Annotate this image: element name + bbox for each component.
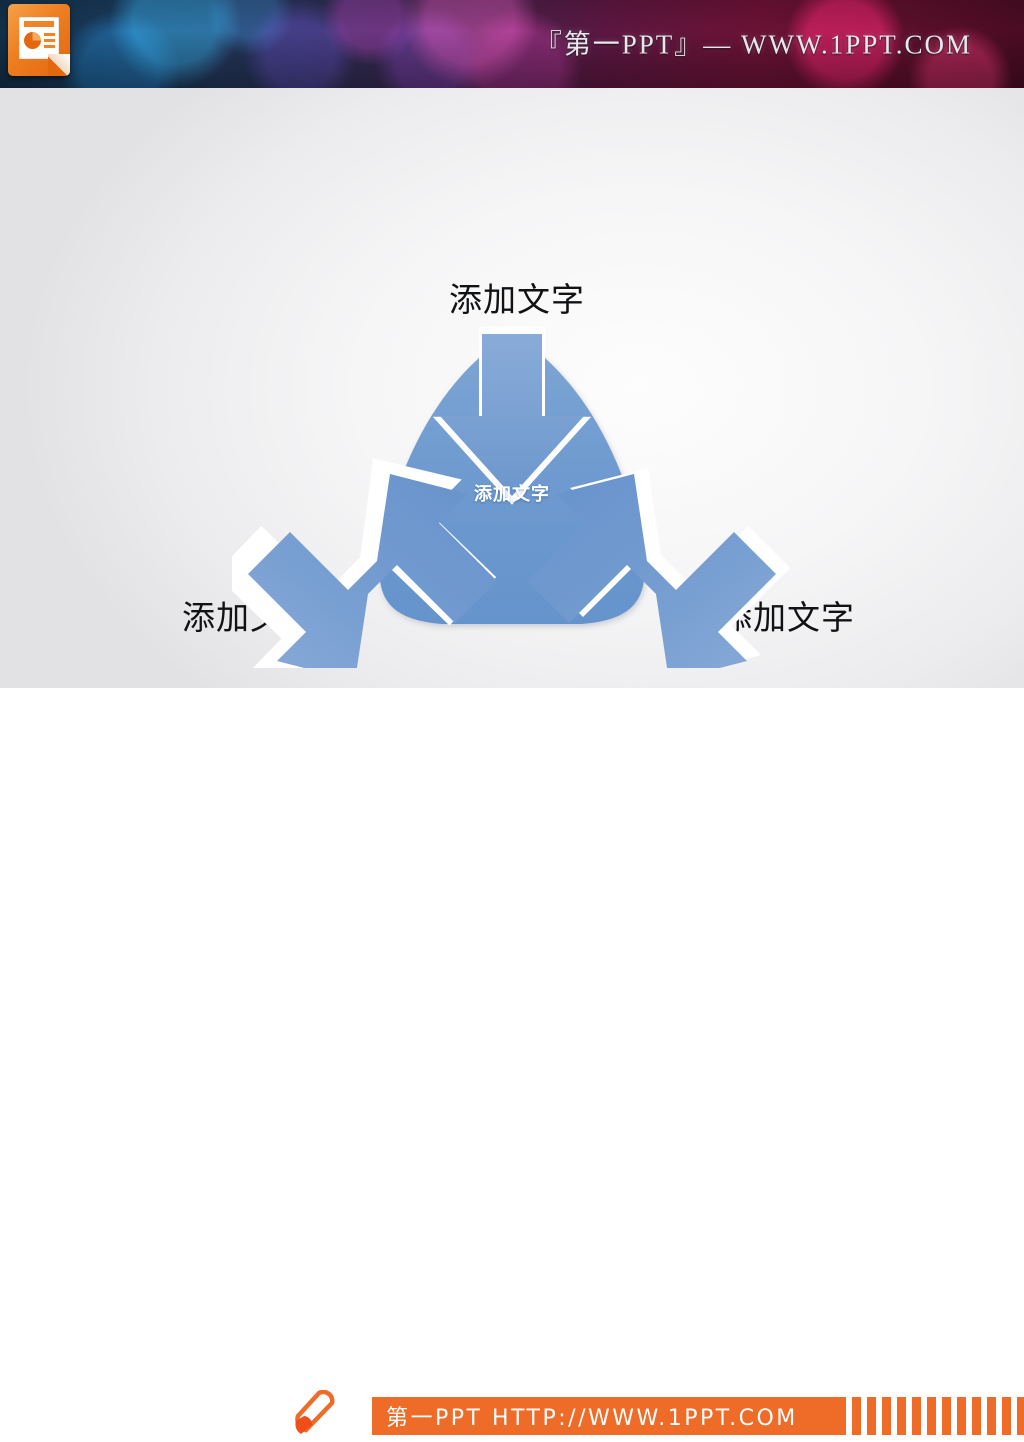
slide-body: 添加文字 添加文字 添加文字 — [0, 88, 1024, 688]
logo-card — [19, 17, 59, 59]
footer-url-bar: 第一PPT HTTP://WWW.1PPT.COM — [372, 1397, 846, 1435]
logo-page-fold — [48, 54, 70, 76]
diagram-center-label: 添加文字 — [0, 480, 1024, 506]
header-banner: 『第一PPT』— WWW.1PPT.COM — [0, 0, 1024, 88]
logo-line-3 — [44, 45, 55, 48]
pen-nib-icon — [292, 1390, 346, 1442]
footer-stripe-decoration — [852, 1397, 1024, 1435]
logo-line-1 — [44, 33, 55, 36]
logo-line-2 — [44, 39, 55, 42]
logo-card-header — [24, 21, 54, 27]
diagram-svg — [232, 248, 792, 668]
converging-arrows-diagram[interactable] — [232, 248, 792, 668]
footer-bar-region: 第一PPT HTTP://WWW.1PPT.COM — [0, 688, 1024, 768]
powerpoint-logo-icon — [8, 4, 74, 82]
logo-pie-chart-icon — [24, 32, 41, 49]
header-title: 『第一PPT』— WWW.1PPT.COM — [535, 23, 972, 62]
footer-url-text: 第一PPT HTTP://WWW.1PPT.COM — [372, 1400, 798, 1432]
